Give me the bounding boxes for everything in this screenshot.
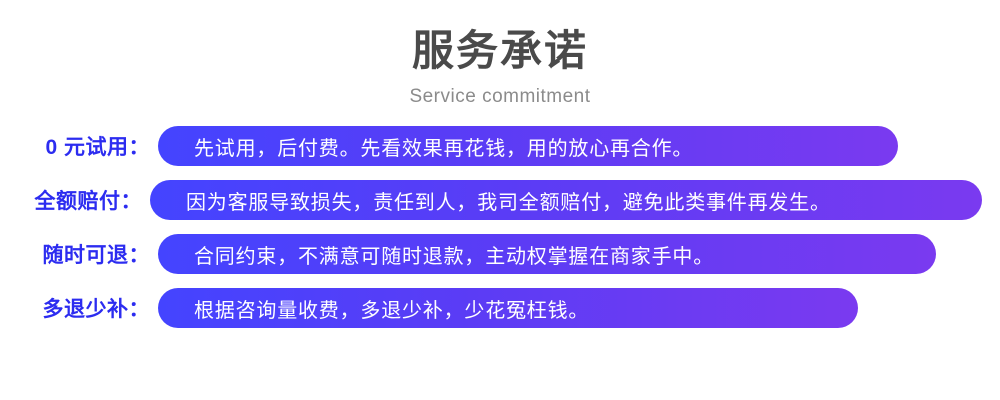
commitment-bar: 根据咨询量收费，多退少补，少花冤枉钱。	[158, 288, 858, 328]
commitment-label: 多退少补：	[10, 293, 158, 323]
commitment-text: 合同约束，不满意可随时退款，主动权掌握在商家手中。	[194, 240, 714, 269]
header: 服务承诺 Service commitment	[0, 0, 1000, 108]
commitment-label: 随时可退：	[10, 239, 158, 269]
commitment-bar: 合同约束，不满意可随时退款，主动权掌握在商家手中。	[158, 234, 936, 274]
list-item: 全额赔付： 因为客服导致损失，责任到人，我司全额赔付，避免此类事件再发生。	[10, 180, 982, 220]
commitment-label: 0 元试用：	[10, 131, 158, 161]
commitment-bar: 先试用，后付费。先看效果再花钱，用的放心再合作。	[158, 126, 898, 166]
commitment-list: 0 元试用： 先试用，后付费。先看效果再花钱，用的放心再合作。 全额赔付： 因为…	[0, 126, 1000, 328]
commitment-bar: 因为客服导致损失，责任到人，我司全额赔付，避免此类事件再发生。	[150, 180, 982, 220]
commitment-text: 先试用，后付费。先看效果再花钱，用的放心再合作。	[194, 132, 693, 161]
list-item: 随时可退： 合同约束，不满意可随时退款，主动权掌握在商家手中。	[10, 234, 982, 274]
commitment-text: 因为客服导致损失，责任到人，我司全额赔付，避免此类事件再发生。	[186, 186, 831, 215]
commitment-text: 根据咨询量收费，多退少补，少花冤枉钱。	[194, 294, 589, 323]
service-commitment-banner: 服务承诺 Service commitment 0 元试用： 先试用，后付费。先…	[0, 0, 1000, 400]
list-item: 0 元试用： 先试用，后付费。先看效果再花钱，用的放心再合作。	[10, 126, 982, 166]
page-title: 服务承诺	[0, 26, 1000, 76]
list-item: 多退少补： 根据咨询量收费，多退少补，少花冤枉钱。	[10, 288, 982, 328]
page-subtitle: Service commitment	[0, 86, 1000, 108]
commitment-label: 全额赔付：	[10, 185, 150, 215]
